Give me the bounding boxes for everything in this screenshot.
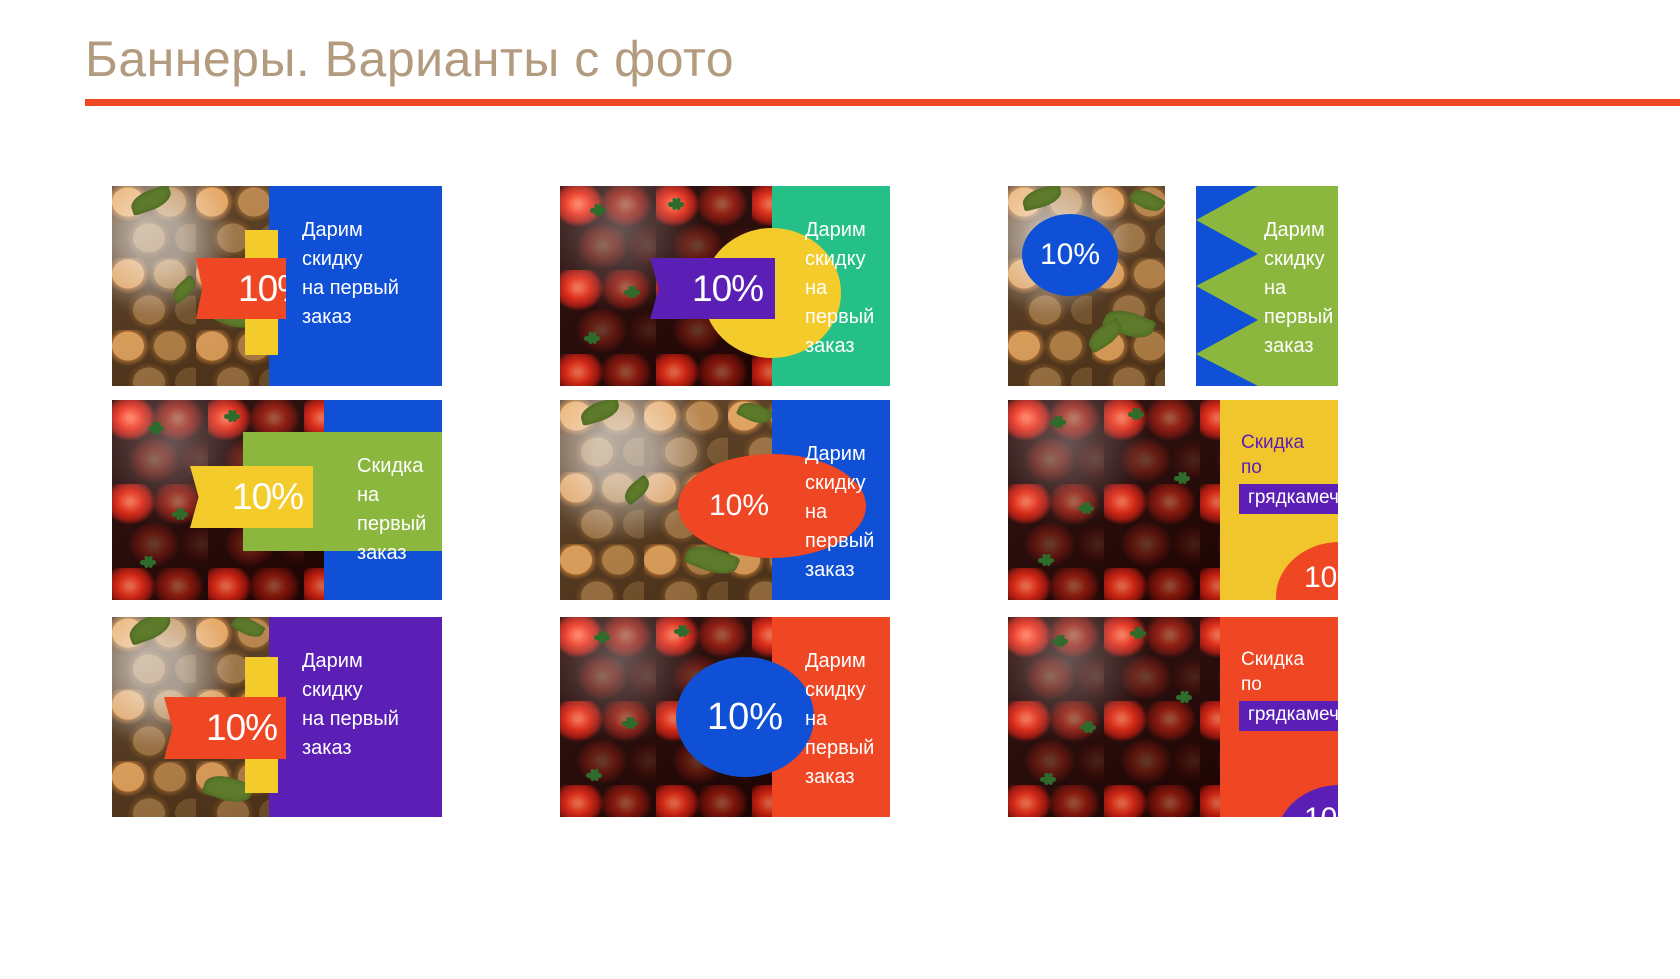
banner-headline: Скидка на первый заказ: [357, 452, 442, 568]
discount-value: 10%: [232, 476, 303, 518]
banner-card[interactable]: 10% Скидка по промокоду грядкамечты: [1008, 617, 1338, 817]
banner-headline: Дарим скидку на первый заказ: [805, 440, 890, 585]
discount-ribbon: 10%: [164, 697, 286, 759]
banner-photo-tomatoes: [1008, 617, 1220, 817]
promo-code-chip[interactable]: грядкамечты: [1239, 484, 1338, 514]
discount-value: 10%: [1304, 561, 1338, 595]
discount-value: 10%: [206, 707, 277, 749]
page-title: Баннеры. Варианты с фото: [85, 28, 734, 90]
banner-headline: Дарим скидку на первый заказ: [302, 647, 399, 763]
banner-photo-tomatoes: [1008, 400, 1220, 600]
slide-canvas: Баннеры. Варианты с фото 10% Дарим скидк…: [0, 0, 1680, 979]
banner-card[interactable]: 10% Дарим скидку на первый заказ: [560, 400, 890, 600]
banner-card[interactable]: 10% Дарим скидку на первый заказ: [1008, 186, 1338, 386]
discount-ribbon: 10%: [650, 258, 775, 319]
promo-code-chip[interactable]: грядкамечты: [1239, 701, 1338, 731]
discount-ribbon: 10%: [190, 466, 313, 528]
discount-circle: 10%: [1022, 214, 1118, 296]
banner-card[interactable]: 10% Дарим скидку на первый заказ: [112, 617, 442, 817]
discount-value: 10%: [1304, 802, 1338, 817]
discount-ribbon: 10%: [196, 258, 286, 319]
title-underline-rule: [85, 99, 1680, 106]
banner-card[interactable]: 10% Дарим скидку на первый заказ: [560, 617, 890, 817]
banner-card[interactable]: 10% Дарим скидку на первый заказ: [560, 186, 890, 386]
banner-headline: Дарим скидку на первый заказ: [805, 216, 890, 361]
discount-value: 10%: [1040, 238, 1100, 272]
discount-value: 10%: [709, 489, 769, 523]
banner-card[interactable]: 10% Скидка по промокоду грядкамечты: [1008, 400, 1338, 600]
banner-card[interactable]: 10% Скидка на первый заказ: [112, 400, 442, 600]
discount-circle: 10%: [676, 657, 814, 777]
banner-card[interactable]: 10% Дарим скидку на первый заказ: [112, 186, 442, 386]
banner-headline: Дарим скидку на первый заказ: [805, 647, 890, 792]
discount-value: 10%: [707, 696, 783, 739]
discount-value: 10%: [692, 268, 763, 310]
banner-headline: Дарим скидку на первый заказ: [302, 216, 399, 332]
banner-headline: Дарим скидку на первый заказ: [1264, 216, 1338, 361]
